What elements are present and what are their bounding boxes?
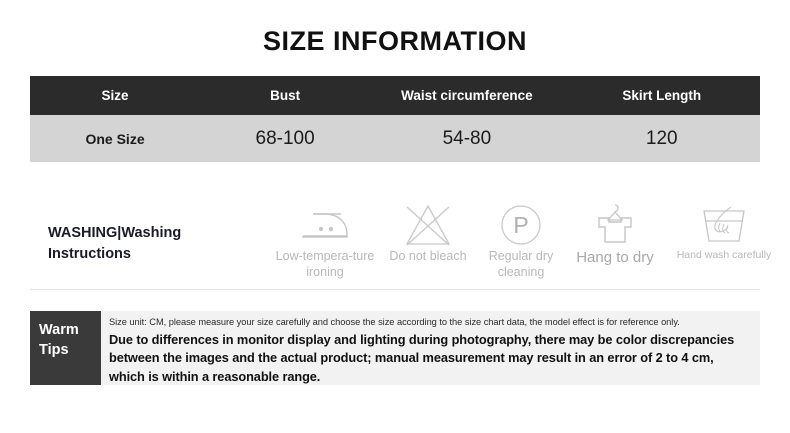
care-caption-hand-wash: Hand wash carefully [662, 249, 786, 262]
care-item-hang-to-dry: Hang to dry [566, 201, 664, 268]
care-caption-bleach: Do not bleach [378, 249, 478, 265]
care-item-bleach: Do not bleach [378, 201, 478, 265]
header-cell-waist: Waist circumference [370, 88, 563, 103]
care-item-iron: Low-tempera-ture ironing [272, 201, 378, 280]
warm-tips-panel: Warm Tips Size unit: CM, please measure … [30, 311, 760, 385]
cell-waist: 54-80 [370, 128, 563, 150]
size-information-page: SIZE INFORMATION Size Bust Waist circumf… [0, 0, 790, 433]
care-item-hand-wash: Hand wash carefully [662, 201, 786, 262]
dry-clean-p-icon: P [474, 201, 568, 249]
warm-tips-main-note: Due to differences in monitor display an… [109, 331, 752, 387]
header-cell-bust: Bust [200, 88, 370, 103]
warm-tips-size-note: Size unit: CM, please measure your size … [109, 316, 752, 330]
care-caption-iron: Low-tempera-ture ironing [272, 249, 378, 280]
table-row: One Size 68-100 54-80 120 [30, 115, 760, 162]
care-caption-hang-to-dry: Hang to dry [566, 249, 664, 268]
header-cell-size: Size [30, 88, 200, 103]
section-divider [30, 289, 760, 290]
care-item-dry-clean: P Regular dry cleaning [474, 201, 568, 280]
cell-size: One Size [30, 131, 200, 147]
hand-wash-icon [662, 201, 786, 249]
header-cell-skirt: Skirt Length [564, 88, 760, 103]
iron-low-temperature-icon [272, 201, 378, 249]
table-header-row: Size Bust Waist circumference Skirt Leng… [30, 76, 760, 115]
warm-tips-badge: Warm Tips [30, 311, 101, 385]
warm-tips-body: Size unit: CM, please measure your size … [101, 311, 760, 385]
svg-text:P: P [513, 212, 528, 238]
washing-instructions-label: WASHING|Washing Instructions [48, 223, 263, 265]
washing-instructions-section: WASHING|Washing Instructions Low-tempera… [0, 193, 790, 289]
care-caption-dry-clean: Regular dry cleaning [474, 249, 568, 280]
cell-skirt: 120 [564, 128, 760, 150]
size-table: Size Bust Waist circumference Skirt Leng… [30, 76, 760, 162]
hang-to-dry-icon [566, 201, 664, 249]
page-title: SIZE INFORMATION [0, 26, 790, 57]
cell-bust: 68-100 [200, 128, 370, 150]
do-not-bleach-icon [378, 201, 478, 249]
